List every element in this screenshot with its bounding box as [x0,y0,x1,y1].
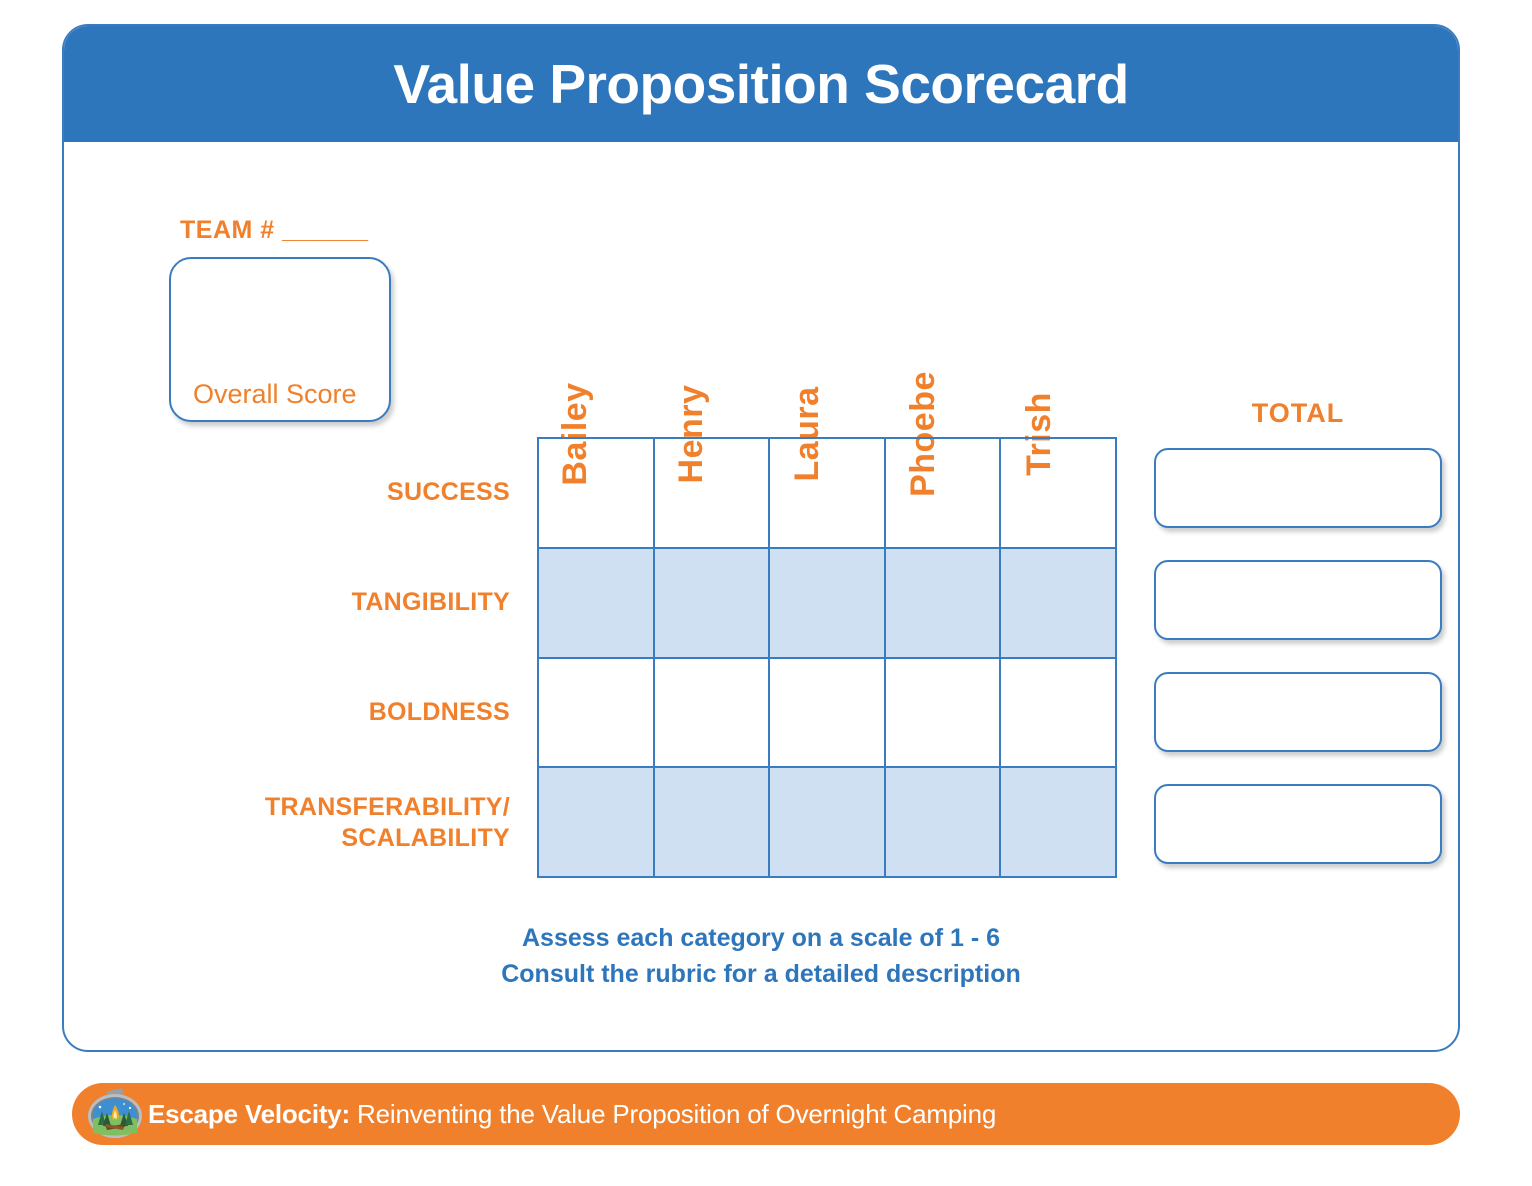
column-header-laura: Laura [769,266,885,434]
total-input-boldness[interactable] [1154,672,1442,752]
score-grid [537,437,1117,878]
instructions: Assess each category on a scale of 1 - 6… [64,921,1458,992]
total-input-success[interactable] [1154,448,1442,528]
page-title: Value Proposition Scorecard [393,57,1128,112]
score-cell-boldness-bailey[interactable] [539,659,655,767]
column-header-bailey: Bailey [537,266,653,434]
score-cell-transferability-laura[interactable] [770,768,886,876]
total-boxes [1154,448,1442,864]
score-cell-success-henry[interactable] [655,439,771,547]
total-column-header: TOTAL [1154,398,1442,429]
row-label-text: SUCCESS [90,477,510,508]
row-labels: SUCCESS TANGIBILITY BOLDNESS TRANSFERABI… [84,437,524,878]
score-cell-boldness-phoebe[interactable] [886,659,1002,767]
score-cell-success-phoebe[interactable] [886,439,1002,547]
score-cell-boldness-henry[interactable] [655,659,771,767]
table-row [539,659,1115,769]
row-label-tangibility: TANGIBILITY [90,547,510,657]
score-cell-transferability-bailey[interactable] [539,768,655,876]
footer-text: Escape Velocity: Reinventing the Value P… [148,1099,996,1130]
score-cell-transferability-phoebe[interactable] [886,768,1002,876]
score-cell-tangibility-henry[interactable] [655,549,771,657]
score-cell-success-trish[interactable] [1001,439,1115,547]
row-label-text: BOLDNESS [90,697,510,728]
footer-subtitle: Reinventing the Value Proposition of Ove… [350,1099,996,1129]
score-cell-transferability-henry[interactable] [655,768,771,876]
row-label-line-1: TRANSFERABILITY/ [265,793,510,821]
score-cell-success-bailey[interactable] [539,439,655,547]
instructions-line-2: Consult the rubric for a detailed descri… [64,957,1458,993]
total-input-transferability[interactable] [1154,784,1442,864]
column-header-henry: Henry [653,266,769,434]
table-row [539,549,1115,659]
score-cell-success-laura[interactable] [770,439,886,547]
score-cell-boldness-trish[interactable] [1001,659,1115,767]
score-cell-boldness-laura[interactable] [770,659,886,767]
row-label-text: TANGIBILITY [90,587,510,618]
footer-brand: Escape Velocity: [148,1099,350,1129]
overall-score-input[interactable]: Overall Score [169,257,391,422]
instructions-line-1: Assess each category on a scale of 1 - 6 [64,921,1458,957]
score-cell-tangibility-phoebe[interactable] [886,549,1002,657]
team-number-label: TEAM # ______ [180,216,369,245]
table-row [539,439,1115,549]
score-cell-tangibility-trish[interactable] [1001,549,1115,657]
row-label-transferability-scalability: TRANSFERABILITY/ SCALABILITY [90,767,510,878]
card-header-bar: Value Proposition Scorecard [64,26,1458,142]
scorecard-card: Value Proposition Scorecard TEAM # _____… [62,24,1460,1052]
row-label-text: TRANSFERABILITY/ SCALABILITY [90,792,510,853]
row-label-boldness: BOLDNESS [90,657,510,767]
overall-score-label: Overall Score [193,379,357,410]
column-header-phoebe: Phoebe [885,266,1001,434]
score-cell-transferability-trish[interactable] [1001,768,1115,876]
column-headers: Bailey Henry Laura Phoebe Trish [537,266,1117,434]
campfire-badge-icon [84,1083,146,1145]
row-label-line-2: SCALABILITY [341,824,510,852]
total-input-tangibility[interactable] [1154,560,1442,640]
footer-bar: Escape Velocity: Reinventing the Value P… [72,1083,1460,1145]
table-row [539,768,1115,876]
row-label-success: SUCCESS [90,437,510,547]
score-cell-tangibility-laura[interactable] [770,549,886,657]
column-header-trish: Trish [1001,266,1117,434]
score-cell-tangibility-bailey[interactable] [539,549,655,657]
